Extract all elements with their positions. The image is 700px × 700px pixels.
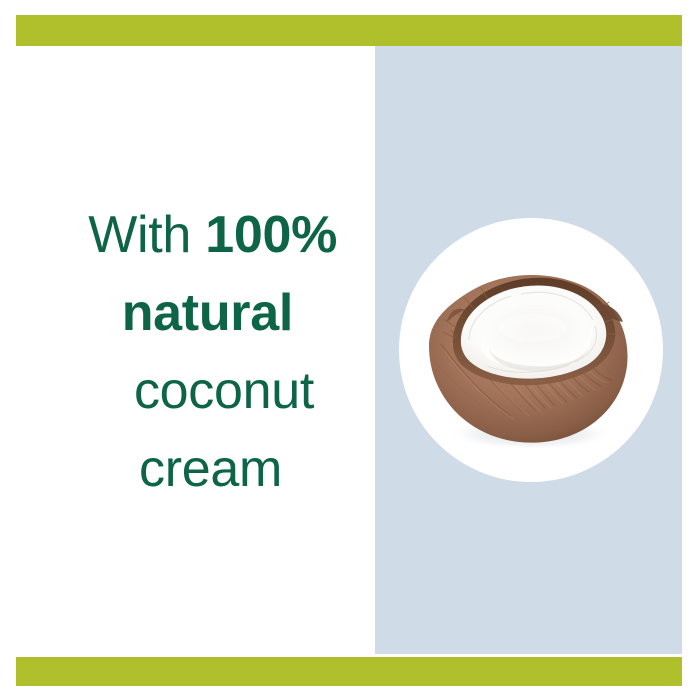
top-accent-bar <box>16 15 682 46</box>
promo-banner: With 100% natural coconut cream <box>0 0 700 700</box>
headline-line-1: With 100% <box>38 196 338 274</box>
headline-line-3: coconut <box>38 352 338 430</box>
bottom-accent-bar <box>16 657 682 686</box>
product-image-circle <box>399 218 663 482</box>
coconut-half-photo <box>399 218 663 482</box>
headline-line-4: cream <box>38 430 338 508</box>
headline-line-1-emphasis: 100% <box>205 206 337 264</box>
headline-block: With 100% natural coconut cream <box>38 196 338 508</box>
headline-line-2: natural <box>38 274 338 352</box>
headline-line-1-prefix: With <box>88 206 205 264</box>
